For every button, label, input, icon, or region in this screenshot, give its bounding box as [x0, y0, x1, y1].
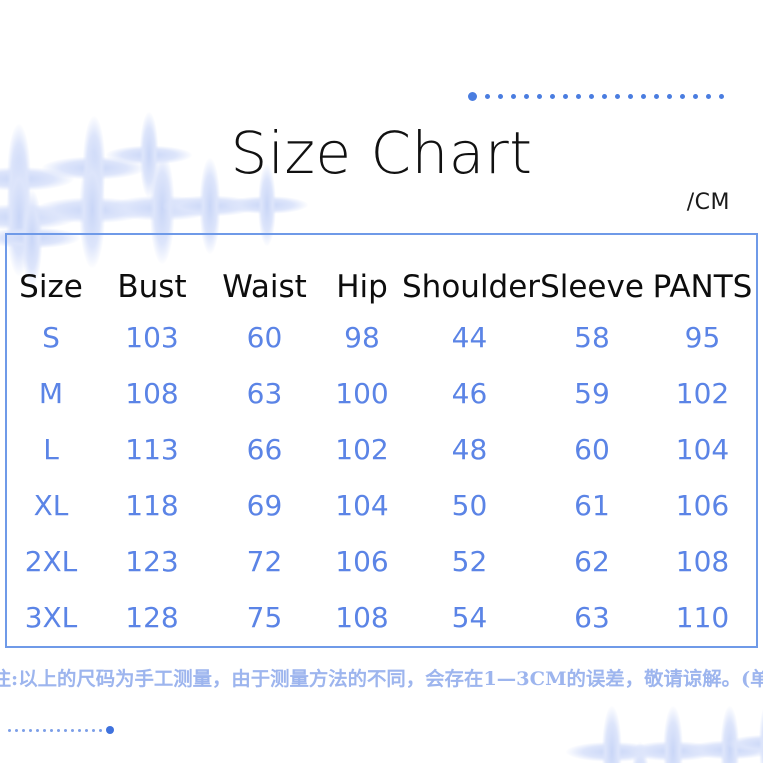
dot [563, 94, 568, 99]
cell-hip: 108 [322, 589, 402, 645]
dot [22, 729, 25, 732]
cell-shoulder: 44 [402, 309, 537, 365]
cell-bust: 118 [97, 477, 207, 533]
cell-pants: 108 [647, 533, 758, 589]
cell-shoulder: 52 [402, 533, 537, 589]
dot [99, 729, 102, 732]
cell-hip: 104 [322, 477, 402, 533]
sparkle-icon [726, 702, 763, 763]
dot [85, 729, 88, 732]
decorative-dot-rule-bottom [8, 726, 114, 734]
column-header-hip: Hip [322, 233, 402, 309]
table-header-row: Size Bust Waist Hip Shoulder Sleeve PANT… [5, 233, 758, 309]
cell-pants: 110 [647, 589, 758, 645]
size-table-body: S 103 60 98 44 58 95 M 108 63 100 46 59 … [5, 309, 758, 645]
column-header-bust: Bust [97, 233, 207, 309]
dot [680, 94, 685, 99]
cell-shoulder: 48 [402, 421, 537, 477]
dot [641, 94, 646, 99]
dot [615, 94, 620, 99]
cell-waist: 66 [207, 421, 322, 477]
measurement-disclaimer-text: 注:以上的尺码为手工测量，由于测量方法的不同，会存在1—3CM的误差，敬请谅解。… [0, 664, 763, 691]
cell-hip: 100 [322, 365, 402, 421]
cell-pants: 95 [647, 309, 758, 365]
cell-size: L [5, 421, 97, 477]
sparkle-icon [686, 706, 763, 763]
table-row: 2XL 123 72 106 52 62 108 [5, 533, 758, 589]
table-row: M 108 63 100 46 59 102 [5, 365, 758, 421]
column-header-shoulder: Shoulder [402, 233, 537, 309]
cell-waist: 60 [207, 309, 322, 365]
table-row: XL 118 69 104 50 61 106 [5, 477, 758, 533]
cell-waist: 72 [207, 533, 322, 589]
table-row: S 103 60 98 44 58 95 [5, 309, 758, 365]
dot [92, 729, 95, 732]
dot [602, 94, 607, 99]
dot [667, 94, 672, 99]
dot [29, 729, 32, 732]
cell-bust: 128 [97, 589, 207, 645]
cell-size: S [5, 309, 97, 365]
column-header-size: Size [5, 233, 97, 309]
decorative-dot-rule-top [468, 92, 724, 101]
cell-sleeve: 62 [537, 533, 647, 589]
column-header-waist: Waist [207, 233, 322, 309]
page-title: Size Chart [0, 124, 763, 182]
cell-sleeve: 61 [537, 477, 647, 533]
dot [628, 94, 633, 99]
size-chart-canvas: Size Chart /CM Size Bust Waist Hip Shoul… [0, 0, 763, 763]
dot [524, 94, 529, 99]
cell-bust: 108 [97, 365, 207, 421]
cell-hip: 102 [322, 421, 402, 477]
dot [15, 729, 18, 732]
unit-label: /CM [687, 190, 730, 215]
cell-shoulder: 46 [402, 365, 537, 421]
cell-hip: 98 [322, 309, 402, 365]
dot [654, 94, 659, 99]
size-table: Size Bust Waist Hip Shoulder Sleeve PANT… [5, 233, 758, 645]
cell-shoulder: 54 [402, 589, 537, 645]
cell-size: XL [5, 477, 97, 533]
cell-size: 3XL [5, 589, 97, 645]
sparkle-icon [566, 706, 658, 763]
size-table-header: Size Bust Waist Hip Shoulder Sleeve PANT… [5, 233, 758, 309]
cell-bust: 123 [97, 533, 207, 589]
table-row: 3XL 128 75 108 54 63 110 [5, 589, 758, 645]
column-header-sleeve: Sleeve [537, 233, 647, 309]
dot [550, 94, 555, 99]
dot [706, 94, 711, 99]
dot [485, 94, 490, 99]
dot [50, 729, 53, 732]
cell-waist: 75 [207, 589, 322, 645]
cell-hip: 106 [322, 533, 402, 589]
dot [537, 94, 542, 99]
sparkle-icon [600, 742, 680, 763]
dot [576, 94, 581, 99]
cell-pants: 106 [647, 477, 758, 533]
dot [498, 94, 503, 99]
cell-size: M [5, 365, 97, 421]
measurement-disclaimer: 注:以上的尺码为手工测量，由于测量方法的不同，会存在1—3CM的误差，敬请谅解。… [0, 664, 763, 691]
dot [693, 94, 698, 99]
cell-pants: 102 [647, 365, 758, 421]
cell-size: 2XL [5, 533, 97, 589]
cell-pants: 104 [647, 421, 758, 477]
dot [589, 94, 594, 99]
cell-bust: 113 [97, 421, 207, 477]
cell-sleeve: 63 [537, 589, 647, 645]
table-row: L 113 66 102 48 60 104 [5, 421, 758, 477]
dot [64, 729, 67, 732]
cell-sleeve: 60 [537, 421, 647, 477]
dot [8, 729, 11, 732]
dot [71, 729, 74, 732]
dot [36, 729, 39, 732]
dot [468, 92, 477, 101]
dot [106, 726, 114, 734]
dot [78, 729, 81, 732]
cell-bust: 103 [97, 309, 207, 365]
dot [57, 729, 60, 732]
dot [511, 94, 516, 99]
cell-sleeve: 59 [537, 365, 647, 421]
dot [43, 729, 46, 732]
cell-waist: 63 [207, 365, 322, 421]
cell-waist: 69 [207, 477, 322, 533]
dot [719, 94, 724, 99]
cell-shoulder: 50 [402, 477, 537, 533]
sparkle-icon [628, 706, 718, 763]
cell-sleeve: 58 [537, 309, 647, 365]
column-header-pants: PANTS [647, 233, 758, 309]
